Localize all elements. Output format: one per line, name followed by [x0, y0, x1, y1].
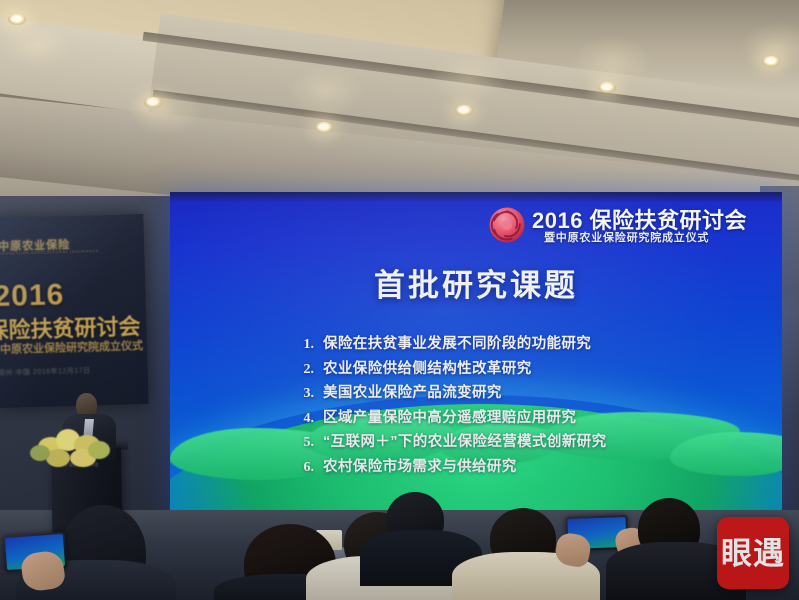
list-item: 6. 农村保险市场需求与供给研究: [288, 455, 607, 476]
recessed-downlight: [598, 82, 616, 93]
watermark-text: 眼遇: [721, 538, 785, 569]
banner-company-logo-subtext: ZHONGYUAN AGRICULTURAL INSURANCE: [0, 248, 99, 256]
light-glow: [428, 52, 508, 104]
banner-company-logo: 中原农业保险: [0, 236, 70, 254]
conference-hall-photo: 中原农业保险 ZHONGYUAN AGRICULTURAL INSURANCE …: [0, 0, 799, 600]
recessed-downlight: [455, 105, 473, 116]
list-item-number: 2.: [288, 362, 314, 378]
light-glow: [572, 36, 652, 88]
ceiling: [0, 0, 799, 215]
banner-subtitle: 暨中原农业保险研究院成立仪式: [0, 337, 143, 357]
list-item-number: 1.: [288, 337, 314, 353]
list-item-text: 农业保险供给侧结构性改革研究: [323, 357, 532, 378]
recessed-downlight: [8, 14, 26, 25]
led-stage-screen: 2016 保险扶贫研讨会 暨中原农业保险研究院成立仪式 首批研究课题 1. 保险…: [170, 192, 782, 524]
list-item: 1. 保险在扶贫事业发展不同阶段的功能研究: [288, 332, 607, 353]
light-glow: [2, 22, 72, 68]
light-glow: [288, 66, 364, 116]
screen-header-lockup: 2016 保险扶贫研讨会 暨中原农业保险研究院成立仪式: [488, 200, 778, 250]
banner-year: 2016: [0, 278, 65, 314]
list-item-text: 农村保险市场需求与供给研究: [323, 455, 517, 476]
slide-title: 首批研究课题: [170, 260, 782, 305]
list-item: 3. 美国农业保险产品流变研究: [288, 381, 607, 402]
petal-pinwheel-emblem: [488, 206, 526, 244]
list-item-text: “互联网＋”下的农业保险经营模式创新研究: [323, 430, 607, 451]
list-item-number: 5.: [288, 435, 314, 451]
slide-topic-list: 1. 保险在扶贫事业发展不同阶段的功能研究 2. 农业保险供给侧结构性改革研究 …: [288, 332, 607, 479]
list-item-number: 6.: [288, 460, 314, 476]
list-item-text: 区域产量保险中高分遥感理赔应用研究: [323, 406, 576, 427]
list-item-text: 保险在扶贫事业发展不同阶段的功能研究: [323, 332, 591, 353]
banner-title: 保险扶贫研讨会: [0, 309, 141, 345]
yellow-flower-arrangement: [30, 425, 116, 471]
list-item: 2. 农业保险供给侧结构性改革研究: [288, 357, 607, 378]
backdrop-banner: 中原农业保险 ZHONGYUAN AGRICULTURAL INSURANCE …: [0, 214, 149, 408]
list-item-text: 美国农业保险产品流变研究: [323, 381, 502, 402]
screen-header-subtitle: 暨中原农业保险研究院成立仪式: [544, 229, 709, 245]
list-item: 5. “互联网＋”下的农业保险经营模式创新研究: [288, 430, 607, 451]
list-item-number: 4.: [288, 411, 314, 427]
recessed-downlight: [144, 97, 162, 108]
app-watermark-badge: 眼遇: [717, 517, 789, 589]
recessed-downlight: [762, 56, 780, 67]
light-glow: [128, 86, 204, 136]
banner-date-line: 郑州·中国 2016年12月17日: [0, 365, 91, 378]
list-item-number: 3.: [288, 386, 314, 402]
list-item: 4. 区域产量保险中高分遥感理赔应用研究: [288, 406, 607, 427]
recessed-downlight: [315, 122, 333, 133]
